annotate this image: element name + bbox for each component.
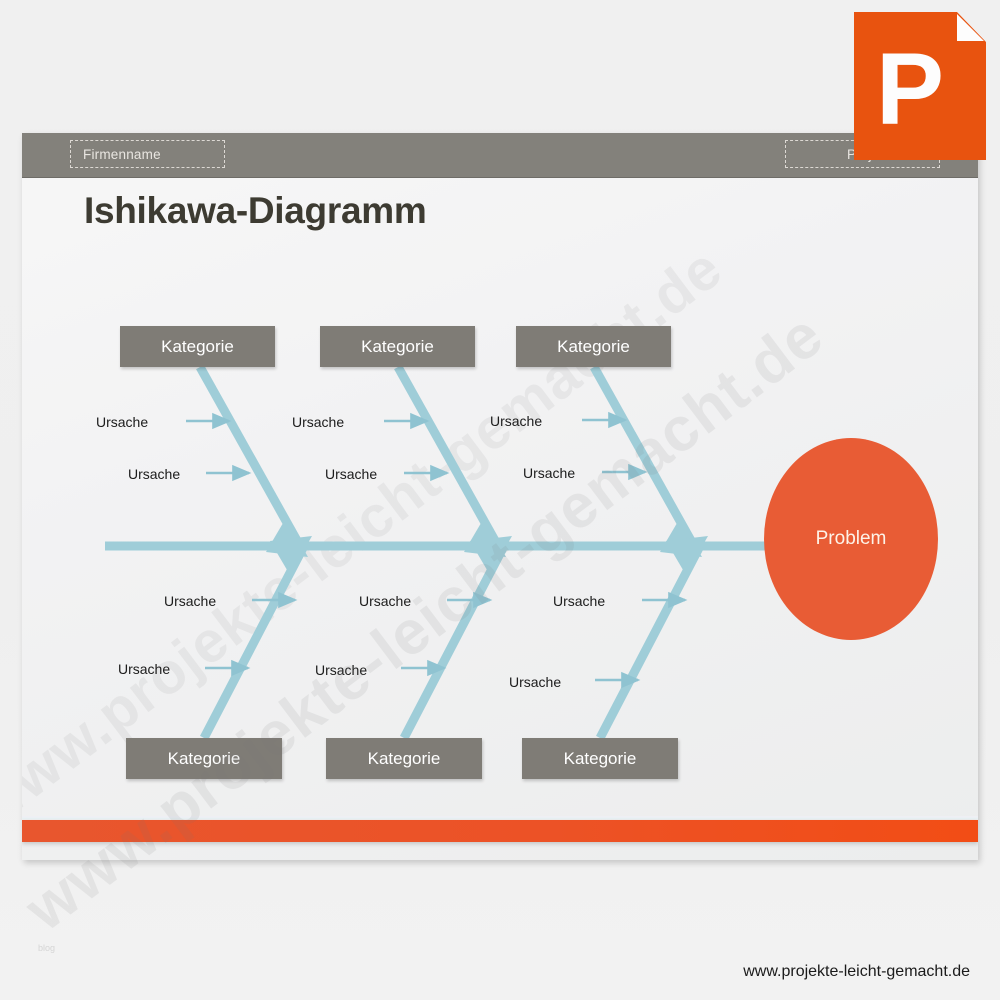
page-canvas: Firmenname Projektname Ishikawa-Diagramm… [0, 0, 1000, 1000]
bone-top-1 [200, 367, 308, 557]
bone-top-2 [398, 367, 506, 557]
presentation-slide: Firmenname Projektname Ishikawa-Diagramm… [22, 133, 978, 860]
cause-label-bottom-2-b[interactable]: Ursache [315, 662, 367, 678]
cause-label-top-2-b[interactable]: Ursache [325, 466, 377, 482]
category-label: Kategorie [557, 337, 630, 357]
bone-top-3 [594, 367, 702, 557]
slide-hairline [22, 816, 978, 819]
problem-label: Problem [816, 528, 887, 550]
category-box-bottom-3[interactable]: Kategorie [522, 738, 678, 779]
bone-bottom-3 [600, 536, 708, 738]
cause-label-top-1-a[interactable]: Ursache [96, 414, 148, 430]
watermark-tiny-mark: blog [38, 943, 55, 953]
category-label: Kategorie [161, 337, 234, 357]
slide-accent-bar [22, 820, 978, 842]
powerpoint-file-icon[interactable]: P [854, 12, 986, 160]
footer-url[interactable]: www.projekte-leicht-gemacht.de [743, 963, 970, 981]
category-box-bottom-2[interactable]: Kategorie [326, 738, 482, 779]
category-box-top-1[interactable]: Kategorie [120, 326, 275, 367]
cause-label-bottom-1-b[interactable]: Ursache [118, 661, 170, 677]
category-label: Kategorie [564, 749, 637, 769]
cause-label-bottom-3-a[interactable]: Ursache [553, 593, 605, 609]
cause-label-top-2-a[interactable]: Ursache [292, 414, 344, 430]
cause-label-bottom-2-a[interactable]: Ursache [359, 593, 411, 609]
bone-bottom-2 [404, 536, 512, 738]
category-label: Kategorie [368, 749, 441, 769]
category-box-top-2[interactable]: Kategorie [320, 326, 475, 367]
cause-label-bottom-3-b[interactable]: Ursache [509, 674, 561, 690]
cause-label-top-1-b[interactable]: Ursache [128, 466, 180, 482]
category-box-top-3[interactable]: Kategorie [516, 326, 671, 367]
problem-effect-ellipse[interactable]: Problem [764, 438, 938, 640]
category-label: Kategorie [168, 749, 241, 769]
powerpoint-icon-letter: P [876, 32, 944, 146]
cause-label-bottom-1-a[interactable]: Ursache [164, 593, 216, 609]
cause-label-top-3-b[interactable]: Ursache [523, 465, 575, 481]
category-box-bottom-1[interactable]: Kategorie [126, 738, 282, 779]
cause-label-top-3-a[interactable]: Ursache [490, 413, 542, 429]
category-label: Kategorie [361, 337, 434, 357]
bone-bottom-1 [204, 536, 312, 738]
